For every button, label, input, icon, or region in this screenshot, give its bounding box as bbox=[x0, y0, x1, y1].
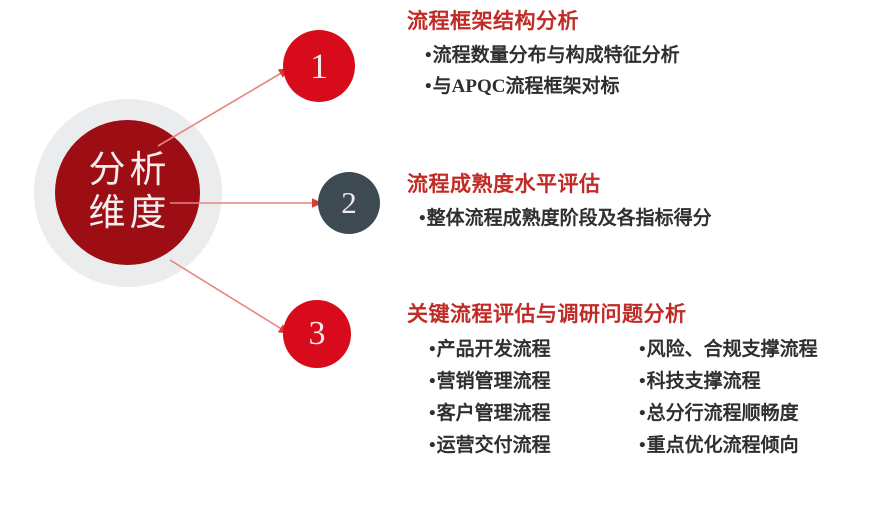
list-item-label: 重点优化流程倾向 bbox=[647, 435, 799, 456]
bullet-dot-icon: • bbox=[639, 334, 646, 366]
hub-center-circle: 分析 维度 bbox=[55, 120, 200, 265]
step-node-3-number: 3 bbox=[309, 315, 326, 353]
section-1: 流程框架结构分析 •流程数量分布与构成特征分析 •与APQC流程框架对标 bbox=[407, 5, 680, 103]
bullet-dot-icon: • bbox=[429, 430, 436, 462]
bullet-dot-icon: • bbox=[639, 430, 646, 462]
list-item: •总分行流程顺畅度 bbox=[639, 398, 879, 430]
bullet-dot-icon: • bbox=[429, 334, 436, 366]
step-node-2-number: 2 bbox=[341, 185, 357, 221]
list-item: •流程数量分布与构成特征分析 bbox=[425, 41, 680, 72]
section-3-bullet-columns: •产品开发流程 •营销管理流程 •客户管理流程 •运营交付流程 •风险、合规支撑… bbox=[429, 334, 879, 462]
bullet-dot-icon: • bbox=[419, 204, 426, 235]
list-item: •运营交付流程 bbox=[429, 430, 639, 462]
list-item-label: 科技支撑流程 bbox=[647, 371, 761, 392]
bullet-dot-icon: • bbox=[425, 72, 432, 103]
list-item: •重点优化流程倾向 bbox=[639, 430, 879, 462]
section-2: 流程成熟度水平评估 •整体流程成熟度阶段及各指标得分 bbox=[407, 168, 712, 235]
step-node-2[interactable]: 2 bbox=[318, 172, 380, 234]
bullet-dot-icon: • bbox=[429, 398, 436, 430]
section-3-title: 关键流程评估与调研问题分析 bbox=[407, 298, 879, 328]
list-item: •风险、合规支撑流程 bbox=[639, 334, 879, 366]
list-item: •产品开发流程 bbox=[429, 334, 639, 366]
section-2-bullet-list: •整体流程成熟度阶段及各指标得分 bbox=[419, 204, 712, 235]
hub-label-line-2: 维度 bbox=[85, 193, 171, 235]
step-node-1-number: 1 bbox=[310, 45, 328, 87]
hub-label-line-1: 分析 bbox=[85, 150, 171, 192]
bullet-dot-icon: • bbox=[639, 366, 646, 398]
list-item-label: 整体流程成熟度阶段及各指标得分 bbox=[427, 208, 712, 229]
list-item-label: 产品开发流程 bbox=[437, 339, 551, 360]
section-2-title: 流程成熟度水平评估 bbox=[407, 168, 712, 198]
list-item-label: 营销管理流程 bbox=[437, 371, 551, 392]
step-node-1[interactable]: 1 bbox=[283, 30, 355, 102]
list-item-label: 客户管理流程 bbox=[437, 403, 551, 424]
list-item: •整体流程成熟度阶段及各指标得分 bbox=[419, 204, 712, 235]
list-item-label: 运营交付流程 bbox=[437, 435, 551, 456]
list-item: •与APQC流程框架对标 bbox=[425, 72, 680, 103]
section-3-bullet-list-left: •产品开发流程 •营销管理流程 •客户管理流程 •运营交付流程 bbox=[429, 334, 639, 462]
list-item-label: 总分行流程顺畅度 bbox=[647, 403, 799, 424]
bullet-dot-icon: • bbox=[425, 41, 432, 72]
list-item-label: 流程数量分布与构成特征分析 bbox=[433, 45, 680, 66]
list-item-label: 风险、合规支撑流程 bbox=[647, 339, 818, 360]
section-1-title: 流程框架结构分析 bbox=[407, 5, 680, 35]
list-item-label: 与APQC流程框架对标 bbox=[433, 76, 620, 97]
bullet-dot-icon: • bbox=[639, 398, 646, 430]
list-item: •科技支撑流程 bbox=[639, 366, 879, 398]
section-1-bullet-list: •流程数量分布与构成特征分析 •与APQC流程框架对标 bbox=[425, 41, 680, 103]
bullet-dot-icon: • bbox=[429, 366, 436, 398]
list-item: •客户管理流程 bbox=[429, 398, 639, 430]
step-node-3[interactable]: 3 bbox=[283, 300, 351, 368]
analysis-dimension-diagram: 分析 维度 1 2 3 流程框架结构分析 •流程数量分布与构成特征分析 •与AP… bbox=[0, 0, 879, 505]
arrow-to-node-3 bbox=[170, 260, 288, 333]
list-item: •营销管理流程 bbox=[429, 366, 639, 398]
section-3: 关键流程评估与调研问题分析 •产品开发流程 •营销管理流程 •客户管理流程 •运… bbox=[407, 298, 879, 462]
section-3-bullet-list-right: •风险、合规支撑流程 •科技支撑流程 •总分行流程顺畅度 •重点优化流程倾向 bbox=[639, 334, 879, 462]
